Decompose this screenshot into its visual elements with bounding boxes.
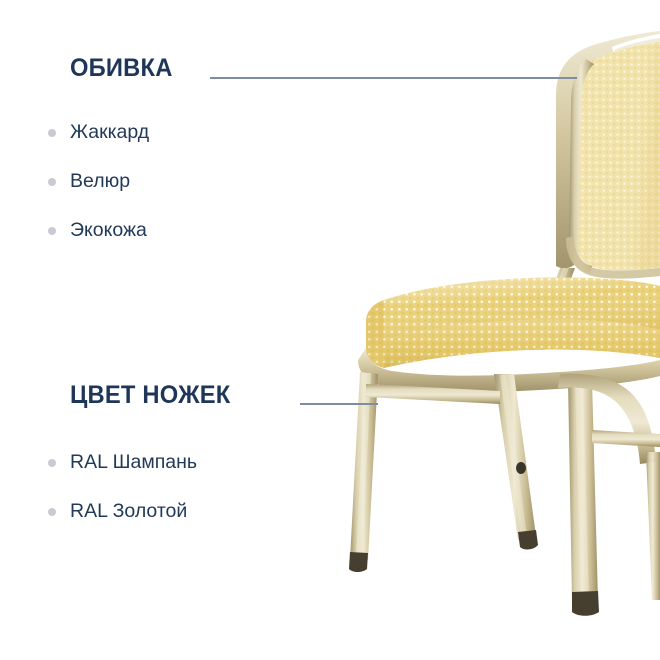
callout-leg-color-list: RAL Шампань RAL Золотой	[70, 438, 239, 536]
bullet-icon	[48, 508, 56, 516]
callout-leg-color-heading: ЦВЕТ НОЖЕК	[70, 383, 230, 408]
list-item[interactable]: Экокожа	[70, 206, 178, 255]
leader-line-leg-color	[300, 403, 378, 405]
chair-seat	[358, 277, 660, 392]
list-item[interactable]: Жаккард	[70, 108, 178, 157]
chair-legs	[349, 372, 660, 616]
bullet-icon	[48, 178, 56, 186]
chair-back-post	[529, 268, 575, 350]
callout-upholstery: ОБИВКА Жаккард Велюр Экокожа	[70, 56, 178, 255]
leader-line-upholstery	[210, 77, 577, 79]
chair-backrest	[556, 31, 660, 279]
list-item-label: Велюр	[70, 172, 130, 192]
list-item[interactable]: Велюр	[70, 157, 178, 206]
bullet-icon	[48, 459, 56, 467]
list-item[interactable]: RAL Золотой	[70, 487, 239, 536]
bullet-icon	[48, 227, 56, 235]
list-item-label: RAL Шампань	[70, 453, 197, 473]
bullet-icon	[48, 129, 56, 137]
list-item-label: RAL Золотой	[70, 502, 187, 522]
callout-upholstery-heading: ОБИВКА	[70, 56, 173, 81]
callout-upholstery-list: Жаккард Велюр Экокожа	[70, 108, 178, 255]
list-item-label: Экокожа	[70, 221, 147, 241]
list-item[interactable]: RAL Шампань	[70, 438, 239, 487]
callout-leg-color: ЦВЕТ НОЖЕК RAL Шампань RAL Золотой	[70, 383, 239, 536]
list-item-label: Жаккард	[70, 123, 149, 143]
product-callout-page: ОБИВКА Жаккард Велюр Экокожа ЦВЕТ НОЖЕК …	[0, 0, 660, 660]
